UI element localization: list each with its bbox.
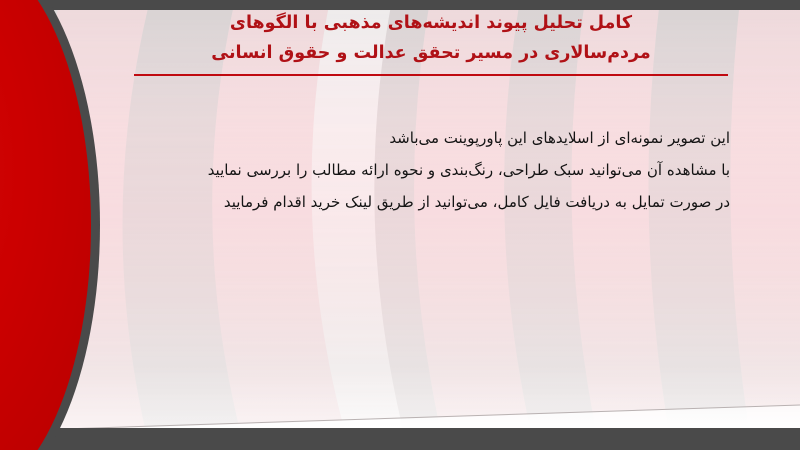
slide-title: کامل تحلیل پیوند اندیشه‌های مذهبی با الگ… <box>130 8 732 68</box>
title-underline-rule <box>134 74 728 76</box>
left-red-oval-decoration <box>0 0 100 450</box>
slide-title-line-1: کامل تحلیل پیوند اندیشه‌های مذهبی با الگ… <box>130 8 732 38</box>
slide-title-line-2: مردم‌سالاری در مسیر تحقق عدالت و حقوق ان… <box>130 38 732 68</box>
bottom-dark-bar <box>0 428 800 450</box>
slide-body-line-3: در صورت تمایل به دریافت فایل کامل، می‌تو… <box>120 186 730 218</box>
slide-body-text: این تصویر نمونه‌ای از اسلایدهای این پاور… <box>120 122 730 218</box>
slide-body-line-2: با مشاهده آن می‌توانید سبک طراحی، رنگ‌بن… <box>120 154 730 186</box>
slide-body-line-1: این تصویر نمونه‌ای از اسلایدهای این پاور… <box>120 122 730 154</box>
presentation-slide: کامل تحلیل پیوند اندیشه‌های مذهبی با الگ… <box>0 0 800 450</box>
